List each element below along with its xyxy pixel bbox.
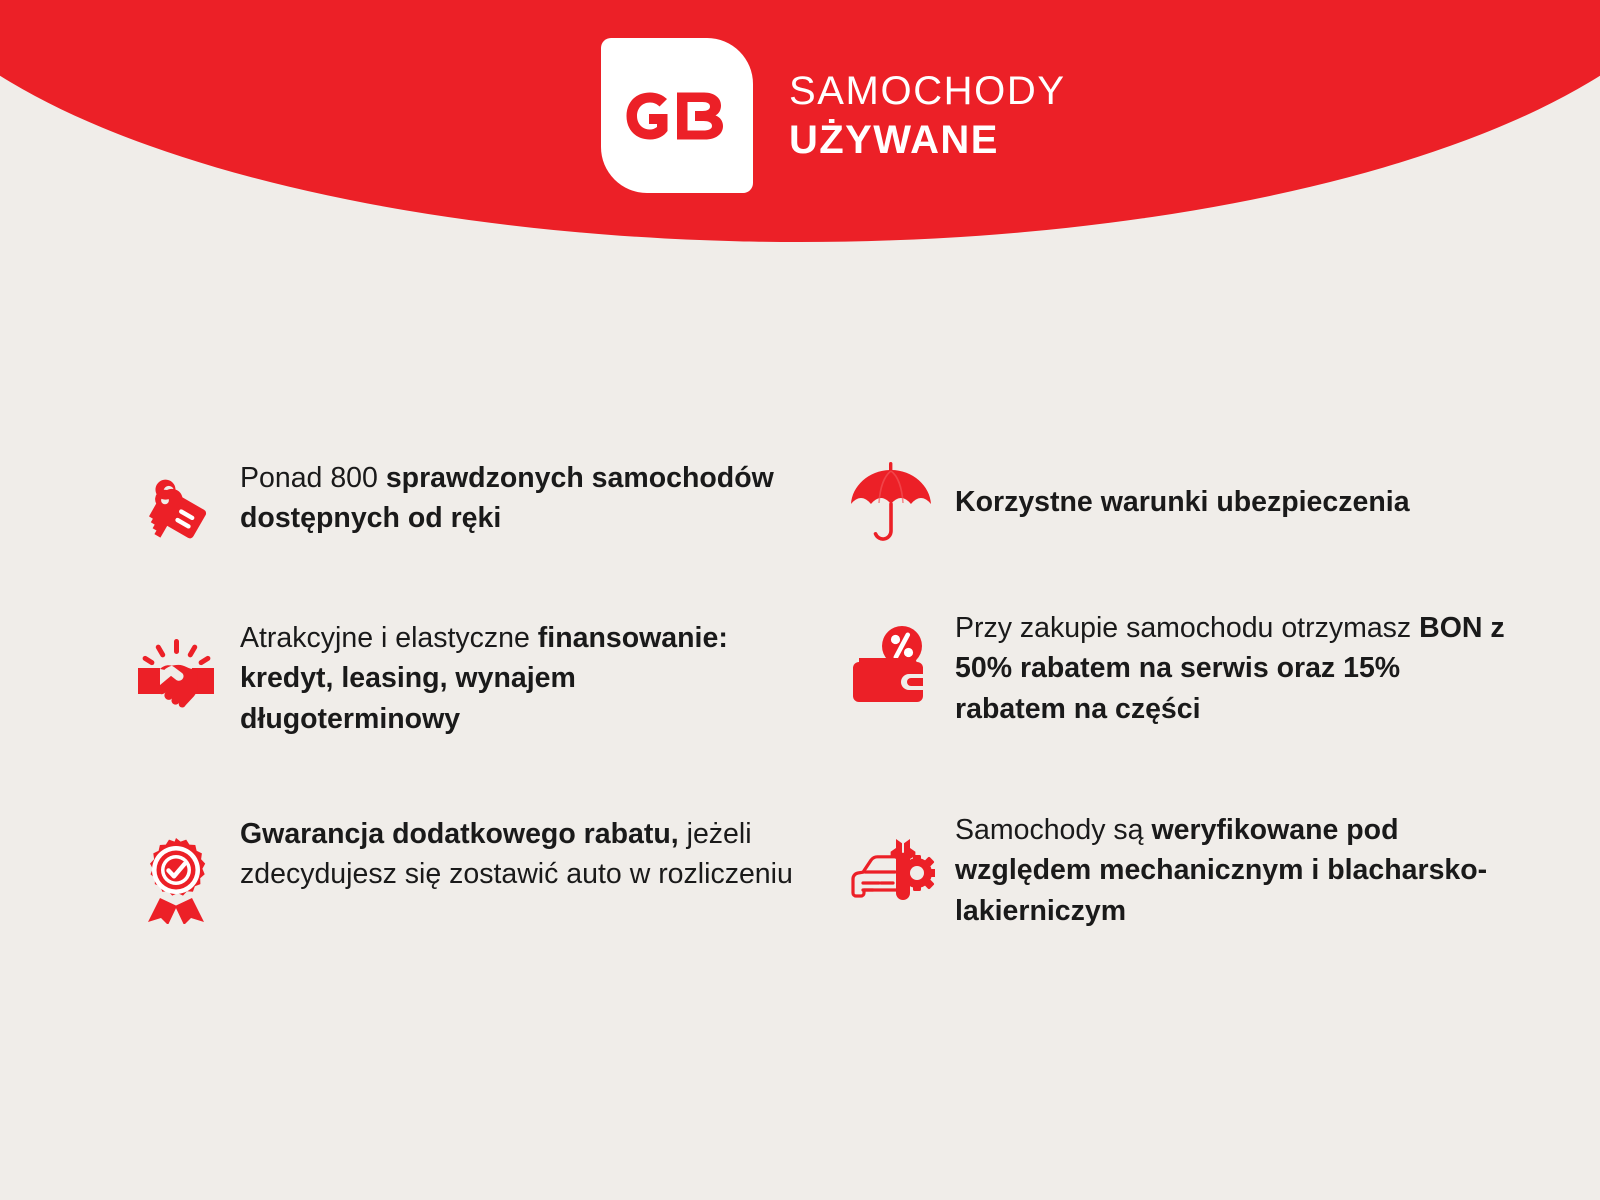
header-banner: SAMOCHODY UŻYWANE [0, 0, 1600, 250]
brand-wordmark: SAMOCHODY UŻYWANE [789, 71, 1066, 160]
car-service-icon [845, 822, 937, 914]
brand-lockup[interactable]: SAMOCHODY UŻYWANE [601, 38, 1031, 193]
handshake-icon [130, 628, 222, 720]
text-plain: Ponad 800 [240, 462, 386, 494]
gb-monogram-icon [625, 91, 729, 141]
brand-wordmark-line-1: SAMOCHODY [789, 71, 1066, 111]
feature-item-text: Atrakcyjne i elastyczne finansowanie: kr… [240, 616, 800, 739]
text-emphasis: Gwarancja dodatkowego rabatu, [240, 818, 679, 850]
feature-item-text: Przy zakupie samochodu otrzymasz BON z 5… [955, 606, 1515, 729]
text-emphasis: Korzystne warunki ubezpieczenia [955, 486, 1410, 518]
feature-item-service-voucher: Przy zakupie samochodu otrzymasz BON z 5… [845, 606, 1545, 729]
feature-item-trade-in-guarantee: Gwarancja dodatkowego rabatu, jeżeli zde… [130, 812, 830, 926]
text-plain: Przy zakupie samochodu otrzymasz [955, 612, 1419, 644]
umbrella-icon [845, 458, 937, 550]
text-plain: Samochody są [955, 814, 1151, 846]
feature-item-financing: Atrakcyjne i elastyczne finansowanie: kr… [130, 616, 830, 739]
gb-logo-tile[interactable] [601, 38, 753, 193]
wallet-discount-icon [845, 620, 937, 712]
feature-item-insurance: Korzystne warunki ubezpieczenia [845, 458, 1545, 550]
feature-item-cars-available: Ponad 800 sprawdzonych samochodów dostęp… [130, 456, 830, 558]
brand-wordmark-line-2: UŻYWANE [789, 120, 1066, 160]
feature-item-text: Gwarancja dodatkowego rabatu, jeżeli zde… [240, 812, 800, 895]
text-plain: Atrakcyjne i elastyczne [240, 622, 538, 654]
feature-item-vehicle-inspection: Samochody są weryfikowane pod względem m… [845, 808, 1545, 931]
feature-item-text: Samochody są weryfikowane pod względem m… [955, 808, 1515, 931]
car-keys-icon [130, 466, 222, 558]
feature-item-text: Ponad 800 sprawdzonych samochodów dostęp… [240, 456, 800, 539]
feature-item-text: Korzystne warunki ubezpieczenia [955, 458, 1410, 522]
award-badge-icon [130, 834, 222, 926]
